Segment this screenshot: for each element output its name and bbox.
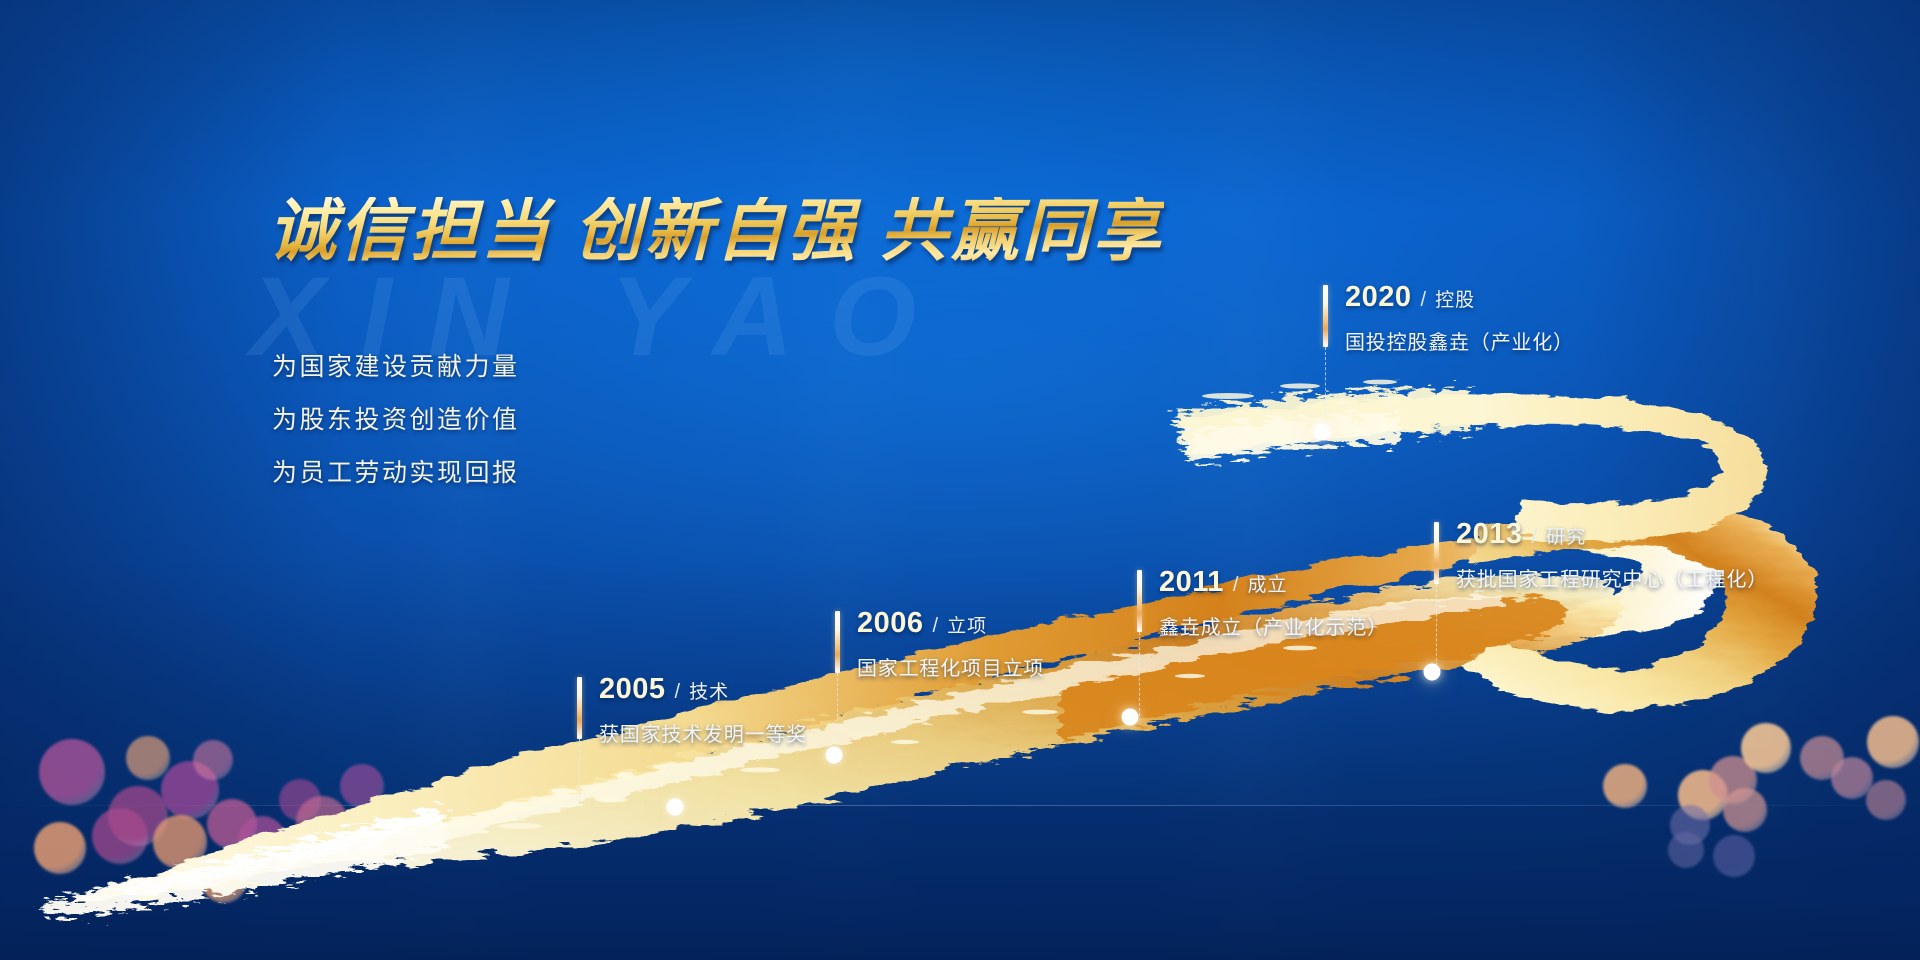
milestone-leader-line bbox=[1325, 347, 1326, 431]
slogan-line: 为员工劳动实现回报 bbox=[272, 458, 520, 489]
milestone-tag: 立项 bbox=[947, 611, 987, 638]
milestone-leader-line bbox=[1436, 584, 1437, 671]
bokeh-circle bbox=[201, 857, 247, 903]
milestone-text: 2013/研究获批国家工程研究中心（工程化） bbox=[1456, 518, 1768, 592]
slogan-line: 为股东投资创造价值 bbox=[272, 405, 520, 436]
bokeh-circle bbox=[1741, 723, 1791, 773]
bokeh-circle bbox=[1867, 716, 1919, 768]
milestone-year: 2005 bbox=[599, 673, 666, 706]
milestone-separator: / bbox=[933, 615, 939, 638]
milestone-text: 2006/立项国家工程化项目立项 bbox=[857, 607, 1044, 681]
milestone-text: 2020/控股国投控股鑫垚（产业化） bbox=[1345, 281, 1574, 355]
milestone-description: 获批国家工程研究中心（工程化） bbox=[1456, 563, 1768, 592]
milestone-leader-line bbox=[579, 739, 580, 807]
bokeh-circle bbox=[1723, 788, 1767, 832]
milestone-leader-line bbox=[1139, 632, 1140, 716]
bokeh-circle bbox=[126, 736, 170, 780]
milestone-dot-marker[interactable] bbox=[1122, 709, 1139, 726]
milestone-accent-bar bbox=[1434, 522, 1439, 584]
milestone-description: 国投控股鑫垚（产业化） bbox=[1345, 326, 1574, 355]
banner-stage: XIN YAO bbox=[0, 0, 1920, 960]
milestone-accent-bar bbox=[577, 677, 582, 739]
milestone-tag: 技术 bbox=[689, 677, 729, 704]
slogan-list: 为国家建设贡献力量为股东投资创造价值为员工劳动实现回报 bbox=[272, 352, 520, 489]
milestone-text: 2011/成立鑫垚成立（产业化示范） bbox=[1159, 566, 1388, 640]
milestone-dot-marker[interactable] bbox=[1314, 424, 1331, 441]
page-title: 诚信担当 创新自强 共赢同享 bbox=[268, 197, 1164, 265]
bokeh-circle bbox=[34, 822, 86, 874]
milestone-separator: / bbox=[675, 681, 681, 704]
milestone-tag: 研究 bbox=[1546, 522, 1586, 549]
bokeh-circle bbox=[238, 816, 286, 864]
milestone-year: 2013 bbox=[1456, 518, 1523, 551]
milestone-accent-bar bbox=[835, 611, 840, 673]
slogan-line: 为国家建设贡献力量 bbox=[272, 352, 520, 383]
milestone-year: 2011 bbox=[1159, 566, 1224, 599]
background-lower-band bbox=[0, 805, 1920, 960]
bokeh-circle bbox=[296, 796, 348, 848]
milestone-dot-marker[interactable] bbox=[826, 747, 843, 764]
milestone-separator: / bbox=[1233, 574, 1239, 597]
bokeh-circle bbox=[1668, 832, 1704, 868]
bokeh-circle bbox=[340, 764, 384, 808]
milestone-description: 鑫垚成立（产业化示范） bbox=[1159, 611, 1388, 640]
bokeh-circle bbox=[193, 740, 233, 780]
bokeh-circle bbox=[1713, 835, 1755, 877]
milestone-dot-marker[interactable] bbox=[1424, 664, 1441, 681]
bokeh-circle bbox=[1866, 780, 1906, 820]
milestone-separator: / bbox=[1421, 289, 1427, 312]
milestone-dot-marker[interactable] bbox=[667, 799, 684, 816]
milestone-accent-bar bbox=[1323, 285, 1328, 347]
milestone-description: 获国家技术发明一等奖 bbox=[599, 718, 807, 747]
milestone-tag: 控股 bbox=[1435, 285, 1475, 312]
milestone-text: 2005/技术获国家技术发明一等奖 bbox=[599, 673, 807, 747]
bokeh-circle bbox=[1603, 764, 1647, 808]
milestone-description: 国家工程化项目立项 bbox=[857, 652, 1044, 681]
milestone-accent-bar bbox=[1137, 570, 1142, 632]
milestone-leader-line bbox=[837, 673, 838, 752]
milestone-tag: 成立 bbox=[1247, 570, 1287, 597]
bokeh-circle bbox=[153, 815, 207, 869]
milestone-year: 2020 bbox=[1345, 281, 1412, 314]
milestone-separator: / bbox=[1532, 526, 1538, 549]
milestone-year: 2006 bbox=[857, 607, 924, 640]
bokeh-circle bbox=[39, 739, 105, 805]
